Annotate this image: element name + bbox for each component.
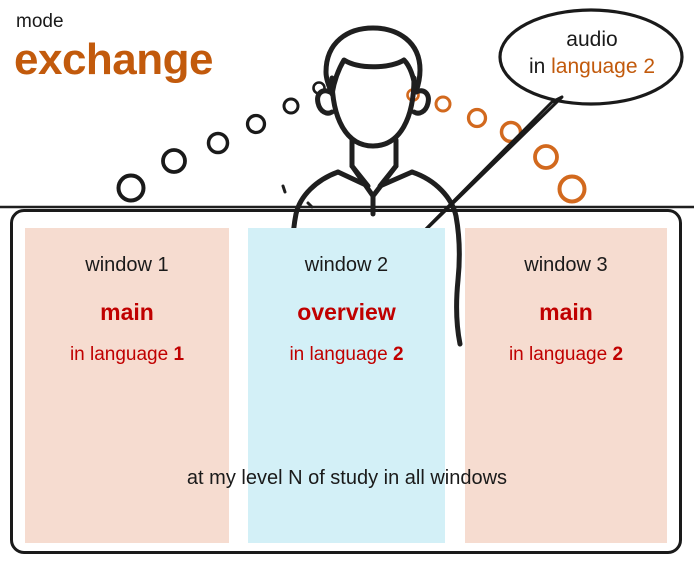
window-panel-3-language-prefix: in language	[509, 344, 613, 365]
window-panel-2-language-number: 2	[393, 344, 404, 365]
person-ear-right	[414, 91, 428, 113]
diagram-canvas: mode exchange	[0, 0, 694, 564]
person-hair	[326, 28, 420, 94]
window-panel-1-title: window 1	[25, 255, 229, 275]
speech-bubble-line-2-prefix: in	[529, 55, 551, 78]
mode-value: exchange	[14, 38, 213, 82]
thought-bubble-right-4	[502, 123, 521, 142]
thought-bubble-right-5	[535, 146, 557, 168]
mode-label: mode	[16, 12, 64, 31]
left-thought-bubbles	[119, 83, 325, 201]
window-panel-1-language: in language 1	[25, 345, 229, 364]
thought-bubble-left-1	[119, 176, 144, 201]
window-panel-1-content: window 1 main in language 1	[25, 228, 229, 364]
person-ear-left	[318, 91, 332, 113]
person-face	[332, 78, 414, 146]
window-panel-2-language-prefix: in language	[289, 344, 393, 365]
window-panel-2[interactable]: window 2 overview in language 2	[248, 228, 445, 543]
window-panel-2-title: window 2	[248, 255, 445, 275]
footer-note: at my level N of study in all windows	[0, 468, 694, 488]
thought-bubble-right-3	[469, 110, 486, 127]
window-panel-3-content: window 3 main in language 2	[465, 228, 667, 364]
thought-bubble-left-6	[314, 83, 325, 94]
speech-bubble-line-1: audio	[500, 26, 684, 53]
thought-bubble-left-3	[209, 134, 228, 153]
window-panel-1-language-number: 1	[173, 344, 184, 365]
window-panel-1-kind: main	[25, 301, 229, 324]
thought-bubble-right-2	[436, 97, 450, 111]
person-collar-left	[338, 166, 368, 186]
window-panel-2-content: window 2 overview in language 2	[248, 228, 445, 364]
thought-bubble-right-1	[408, 90, 419, 101]
person-collar-right	[380, 166, 412, 186]
right-thought-bubbles	[408, 90, 585, 202]
window-panel-2-language: in language 2	[248, 345, 445, 364]
window-panel-3[interactable]: window 3 main in language 2	[465, 228, 667, 543]
window-panel-3-language-number: 2	[612, 344, 623, 365]
window-panel-1-language-prefix: in language	[70, 344, 174, 365]
window-panel-3-title: window 3	[465, 255, 667, 275]
speech-bubble-text: audio in language 2	[500, 26, 684, 81]
person-collar	[352, 166, 396, 196]
window-panel-1[interactable]: window 1 main in language 1	[25, 228, 229, 543]
window-panel-3-language: in language 2	[465, 345, 667, 364]
thought-bubble-left-2	[163, 150, 185, 172]
speech-bubble-line-2-accent: language 2	[551, 55, 655, 78]
window-panel-3-kind: main	[465, 301, 667, 324]
person-mark-1	[283, 186, 285, 192]
person-mark-2	[308, 203, 312, 207]
thought-bubble-right-6	[560, 177, 585, 202]
thought-bubble-left-5	[284, 99, 298, 113]
thought-bubble-left-4	[248, 116, 265, 133]
speech-bubble-line-2: in language 2	[500, 53, 684, 80]
window-panel-2-kind: overview	[248, 301, 445, 324]
